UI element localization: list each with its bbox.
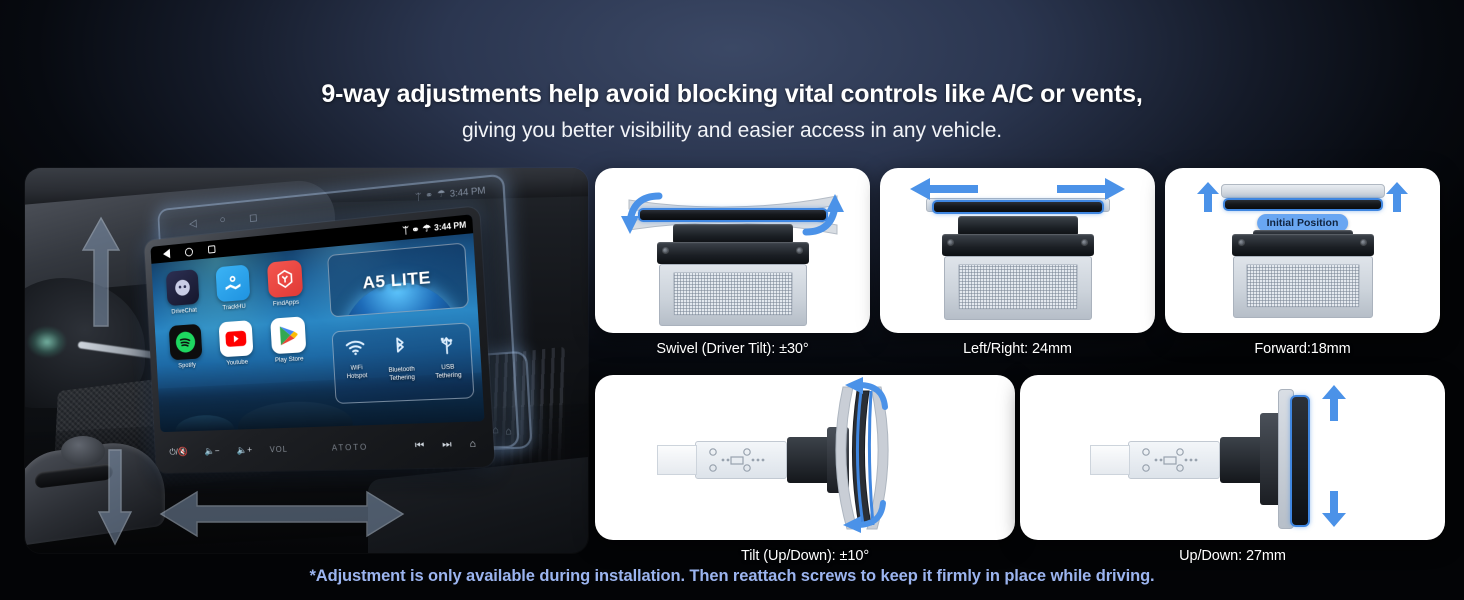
- vehicle-dashboard-photo: ◁ ○ ◻ ᛠ ⚭ ☂ 3:44 PM ⏻/🔇 🔈− 🔈+ ATOTO ⏮ ⏭ …: [25, 168, 588, 553]
- adjustment-card-forward: Initial Position: [1165, 168, 1440, 333]
- drivechat-icon: [166, 269, 200, 306]
- arrow-up-icon: [1320, 383, 1348, 428]
- bracket-lower: [1232, 234, 1374, 256]
- infographic-stage: 9-way adjustments help avoid blocking vi…: [0, 0, 1464, 600]
- youtube-icon: [219, 320, 254, 357]
- wifi-icon: ☂: [422, 223, 431, 233]
- screw-icon: [1082, 240, 1087, 245]
- app-item-drivechat[interactable]: DriveChat: [161, 269, 206, 316]
- arrow-left-icon: [908, 176, 980, 207]
- a5-lite-widget[interactable]: A5 LITE: [327, 242, 469, 317]
- curved-arrow-down-icon: [833, 495, 887, 538]
- page-subtitle: giving you better visibility and easier …: [0, 119, 1464, 143]
- chassis-vent: [958, 264, 1078, 310]
- arrow-right-icon: [1055, 176, 1127, 207]
- bluetooth-icon: ᛠ: [415, 191, 421, 202]
- display-panel: [638, 208, 828, 222]
- connectivity-bluetooth-tethering[interactable]: BluetoothTethering: [377, 336, 426, 401]
- display-panel: [1223, 198, 1383, 211]
- next-track-icon[interactable]: ⏭: [442, 439, 452, 451]
- home-icon: ⌂: [505, 425, 512, 437]
- curved-arrow-up-right-icon: [800, 190, 848, 243]
- motion-arrow-down: [97, 448, 133, 546]
- screw-icon: [797, 248, 802, 253]
- findapps-icon: [267, 260, 303, 299]
- app-label: DriveChat: [171, 307, 197, 316]
- display-panel: [1290, 395, 1310, 527]
- app-item-spotify[interactable]: Spotify: [163, 323, 208, 370]
- volume-up-icon[interactable]: 🔈+: [237, 445, 253, 456]
- hu-left-buttons[interactable]: ⏻/🔇 🔈− 🔈+ VOL: [169, 444, 288, 458]
- location-icon: ⚭: [425, 189, 433, 201]
- bracket-upper: [958, 216, 1078, 236]
- mount-tab: [657, 445, 697, 475]
- app-label: TrackHU: [222, 303, 246, 312]
- screw-icon: [1239, 240, 1244, 245]
- adjustment-card-swivel: [595, 168, 870, 333]
- location-icon: ⚭: [411, 224, 419, 234]
- connectivity-label: WiFiHotspot: [346, 365, 367, 381]
- previous-track-icon[interactable]: ⏮: [415, 440, 425, 452]
- bracket-lower: [942, 234, 1094, 256]
- head-unit-screen[interactable]: ᛠ ⚭ ☂ 3:44 PM DriveChat: [150, 214, 484, 432]
- app-item-trackhu[interactable]: TrackHU: [210, 264, 257, 312]
- app-label: FindApps: [273, 299, 299, 308]
- status-indicators: ᛠ ⚭ ☂ 3:44 PM: [403, 220, 467, 236]
- chassis-vent: [673, 272, 793, 316]
- brand-logo: ATOTO: [332, 443, 369, 453]
- hu-right-buttons[interactable]: ⏮ ⏭ ⌂: [415, 438, 477, 451]
- bracket-lower: [657, 242, 809, 264]
- adjustment-card-up-down: [1020, 375, 1445, 540]
- app-item-playstore[interactable]: Play Store: [264, 316, 313, 365]
- connectivity-label: USBTethering: [435, 364, 462, 381]
- screw-icon: [1361, 240, 1366, 245]
- power-mute-icon[interactable]: ⏻/🔇: [169, 447, 188, 458]
- footnote-disclaimer: *Adjustment is only available during ins…: [0, 567, 1464, 586]
- adjustment-card-left-right: [880, 168, 1155, 333]
- trackhu-icon: [215, 264, 250, 302]
- chassis-side-detail: [703, 447, 779, 473]
- head-unit-device: ᛠ ⚭ ☂ 3:44 PM DriveChat: [144, 206, 495, 473]
- bluetooth-icon: [392, 337, 409, 362]
- card-caption-tilt: Tilt (Up/Down): ±10°: [595, 548, 1015, 564]
- arrow-down-icon: [1320, 489, 1348, 534]
- volume-label: VOL: [270, 445, 288, 454]
- connectivity-usb-tethering[interactable]: USBTethering: [423, 333, 473, 399]
- wifi-icon: ☂: [437, 188, 446, 200]
- home-icon: ○: [219, 214, 226, 226]
- screw-icon: [948, 240, 953, 245]
- motion-arrow-up: [81, 216, 121, 328]
- bluetooth-icon: ᛠ: [403, 225, 409, 235]
- usb-icon: [437, 334, 455, 359]
- wifi-icon: [345, 339, 366, 359]
- bracket-upper: [673, 224, 793, 244]
- app-item-youtube[interactable]: Youtube: [213, 320, 260, 368]
- adjustment-card-tilt: [595, 375, 1015, 540]
- volume-down-icon[interactable]: 🔈−: [204, 446, 219, 457]
- recents-icon: ◻: [249, 210, 258, 223]
- chassis-side-detail: [1136, 447, 1212, 473]
- app-label: Spotify: [178, 362, 196, 370]
- connectivity-label: BluetoothTethering: [389, 366, 416, 383]
- arrow-up-icon: [1384, 180, 1410, 219]
- chassis-vent: [1246, 264, 1360, 308]
- connectivity-wifi-hotspot[interactable]: WiFiHotspot: [333, 339, 380, 403]
- back-icon[interactable]: [163, 249, 170, 259]
- back-icon: ◁: [189, 216, 197, 229]
- recents-icon[interactable]: [208, 245, 216, 253]
- card-caption-left-right: Left/Right: 24mm: [880, 341, 1155, 357]
- card-caption-up-down: Up/Down: 27mm: [1020, 548, 1445, 564]
- screw-icon: [663, 248, 668, 253]
- android-nav-buttons[interactable]: [156, 244, 216, 259]
- app-grid: DriveChat TrackHU FindApps: [161, 259, 313, 370]
- curved-arrow-down-left-icon: [617, 190, 665, 243]
- card-caption-swivel: Swivel (Driver Tilt): ±30°: [595, 341, 870, 357]
- home-icon[interactable]: ⌂: [469, 438, 476, 450]
- page-title: 9-way adjustments help avoid blocking vi…: [0, 80, 1464, 109]
- motion-arrow-left-right: [157, 484, 407, 544]
- status-clock: 3:44 PM: [434, 220, 467, 233]
- mount-tab: [1090, 445, 1130, 475]
- spotify-icon: [169, 324, 203, 361]
- app-item-findapps[interactable]: FindApps: [261, 259, 310, 308]
- arrow-up-icon: [1195, 180, 1221, 219]
- connectivity-panel: WiFiHotspot BluetoothTethering USBTether…: [332, 322, 475, 404]
- curved-arrow-up-icon: [835, 377, 889, 420]
- cluster-glow: [27, 326, 67, 358]
- playstore-icon: [270, 316, 306, 354]
- display-backplate: [1221, 184, 1385, 198]
- card-caption-forward: Forward:18mm: [1165, 341, 1440, 357]
- app-label: Youtube: [226, 359, 248, 367]
- home-icon[interactable]: [185, 247, 193, 256]
